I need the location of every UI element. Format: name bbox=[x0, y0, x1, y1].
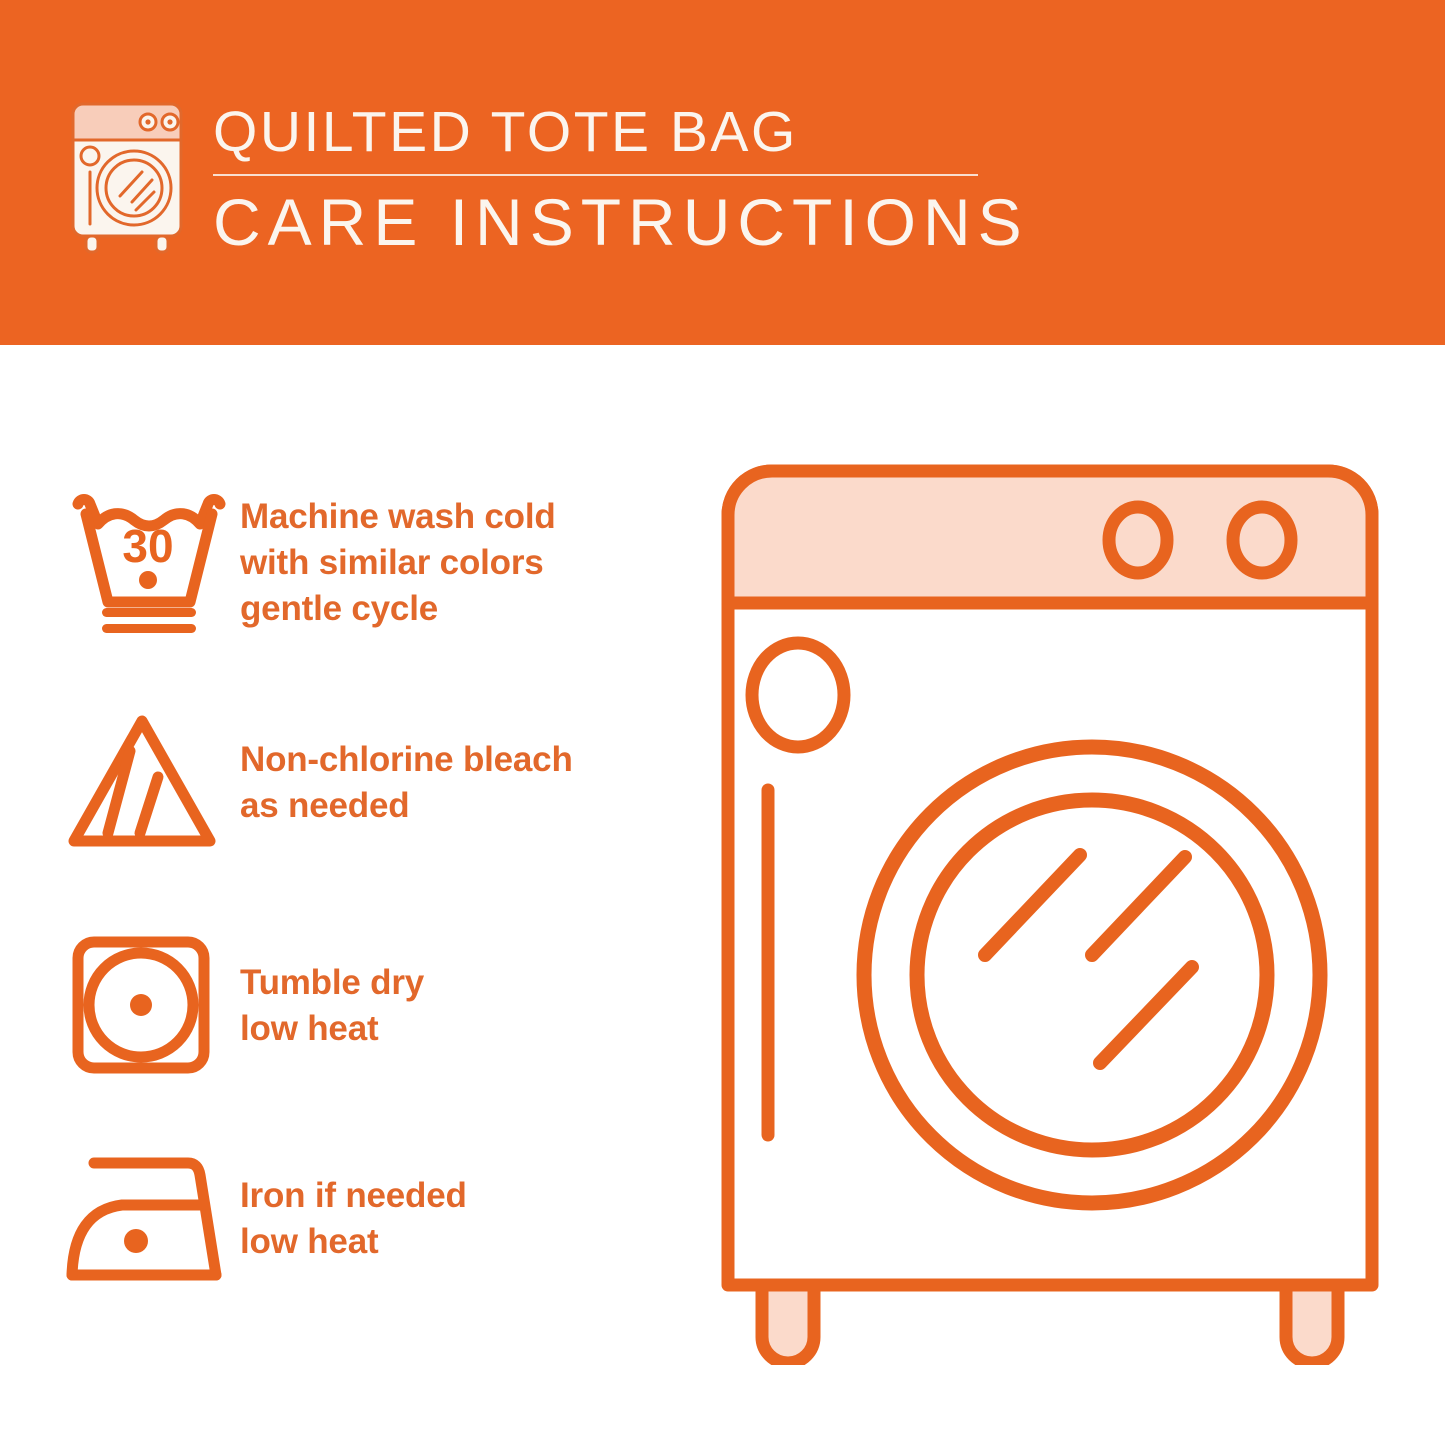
iron-icon bbox=[60, 1145, 240, 1295]
care-label-machine-wash: Machine wash cold with similar colors ge… bbox=[240, 490, 556, 632]
header-banner: QUILTED TOTE BAG CARE INSTRUCTIONS bbox=[0, 0, 1445, 345]
title-divider bbox=[213, 174, 978, 176]
care-label-line: Non-chlorine bleach bbox=[240, 737, 573, 783]
content-area: 30 Machine wash cold with similar colors… bbox=[0, 345, 1445, 1445]
care-label-line: gentle cycle bbox=[240, 586, 556, 632]
care-row-bleach: Non-chlorine bleach as needed bbox=[60, 705, 680, 855]
care-instruction-list: 30 Machine wash cold with similar colors… bbox=[0, 345, 700, 1445]
washing-machine-icon bbox=[62, 98, 192, 256]
care-row-machine-wash: 30 Machine wash cold with similar colors… bbox=[60, 490, 680, 640]
bleach-triangle-icon bbox=[60, 705, 240, 855]
care-label-bleach: Non-chlorine bleach as needed bbox=[240, 705, 573, 829]
care-label-line: low heat bbox=[240, 1006, 424, 1052]
care-label-line: Tumble dry bbox=[240, 960, 424, 1006]
wash-tub-icon: 30 bbox=[60, 490, 240, 640]
svg-text:30: 30 bbox=[122, 520, 173, 572]
care-label-line: Machine wash cold bbox=[240, 494, 556, 540]
care-label-line: as needed bbox=[240, 783, 573, 829]
tumble-dry-icon bbox=[60, 930, 240, 1080]
care-row-iron: Iron if needed low heat bbox=[60, 1145, 680, 1295]
care-label-line: with similar colors bbox=[240, 540, 556, 586]
washing-machine-illustration bbox=[700, 445, 1400, 1365]
care-instructions-page: QUILTED TOTE BAG CARE INSTRUCTIONS 30 bbox=[0, 0, 1445, 1445]
care-label-iron: Iron if needed low heat bbox=[240, 1145, 467, 1265]
page-title: QUILTED TOTE BAG bbox=[213, 100, 1003, 164]
page-subtitle: CARE INSTRUCTIONS bbox=[213, 184, 1003, 260]
care-label-line: low heat bbox=[240, 1219, 467, 1265]
care-label-tumble-dry: Tumble dry low heat bbox=[240, 930, 424, 1052]
care-row-tumble-dry: Tumble dry low heat bbox=[60, 930, 680, 1080]
care-label-line: Iron if needed bbox=[240, 1173, 467, 1219]
header-text-block: QUILTED TOTE BAG CARE INSTRUCTIONS bbox=[213, 100, 1003, 260]
